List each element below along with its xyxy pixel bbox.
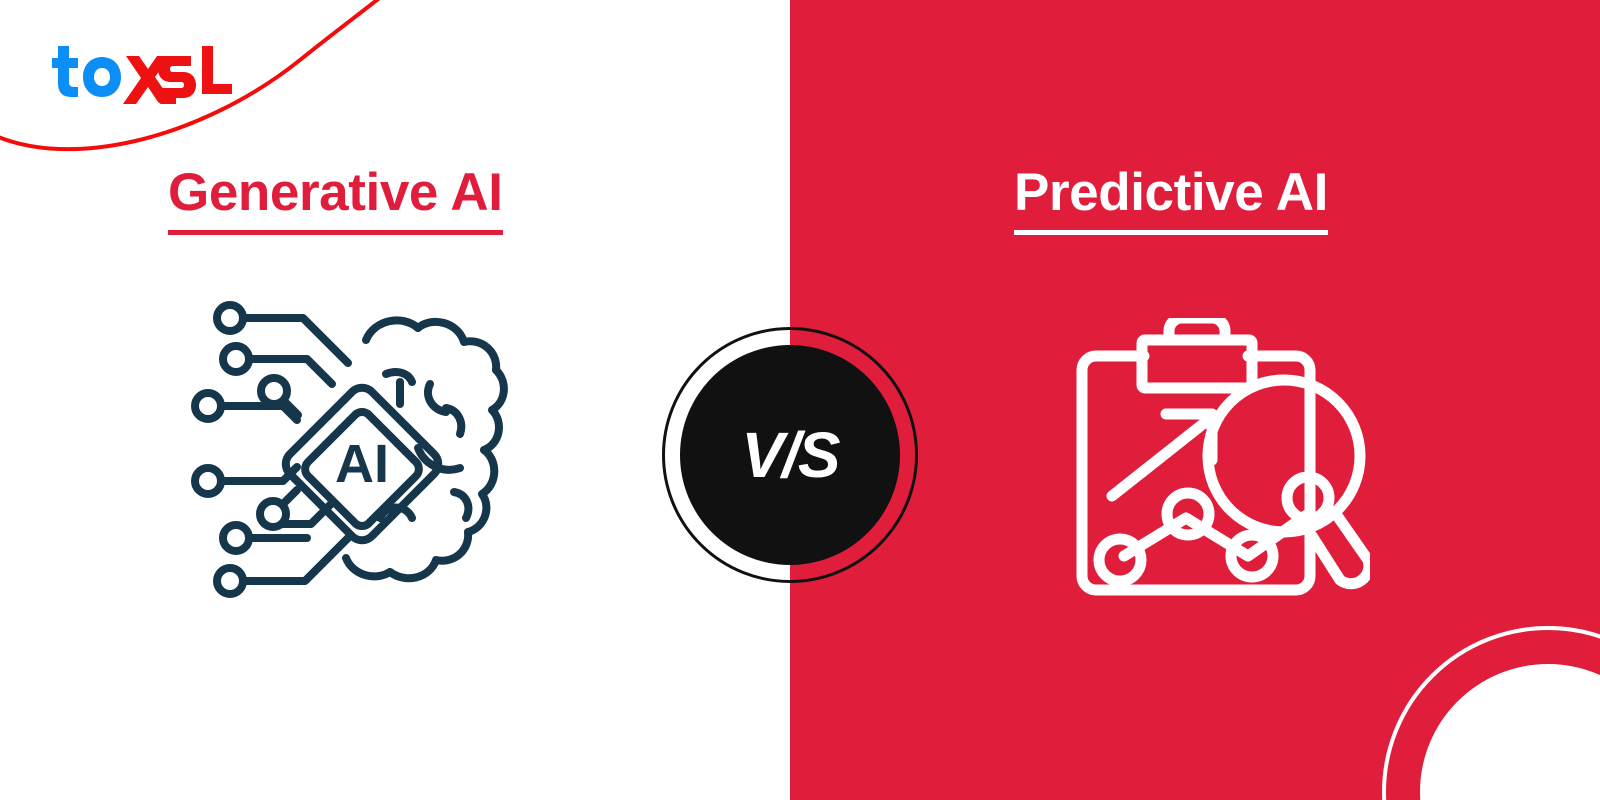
comparison-graphic: Generative AI Predictive AI bbox=[0, 0, 1600, 800]
circuit-traces bbox=[195, 305, 350, 594]
chart-node-1 bbox=[1099, 539, 1141, 581]
toxsl-logo[interactable] bbox=[44, 42, 244, 104]
chip-label: AI bbox=[335, 434, 389, 494]
clipboard-clip-plate bbox=[1142, 340, 1252, 388]
versus-badge: V/S bbox=[662, 327, 918, 583]
clipboard-analytics-magnifier-icon bbox=[1070, 318, 1370, 603]
ai-brain-circuit-icon: AI bbox=[188, 296, 508, 606]
left-panel-title: Generative AI bbox=[168, 166, 503, 235]
versus-badge-core: V/S bbox=[680, 345, 900, 565]
trend-arrow-shaft bbox=[1112, 420, 1208, 496]
logo-text-to bbox=[52, 46, 121, 97]
versus-badge-label: V/S bbox=[741, 423, 838, 487]
logo-text-xsl bbox=[123, 46, 232, 104]
right-panel-title: Predictive AI bbox=[1014, 166, 1328, 235]
